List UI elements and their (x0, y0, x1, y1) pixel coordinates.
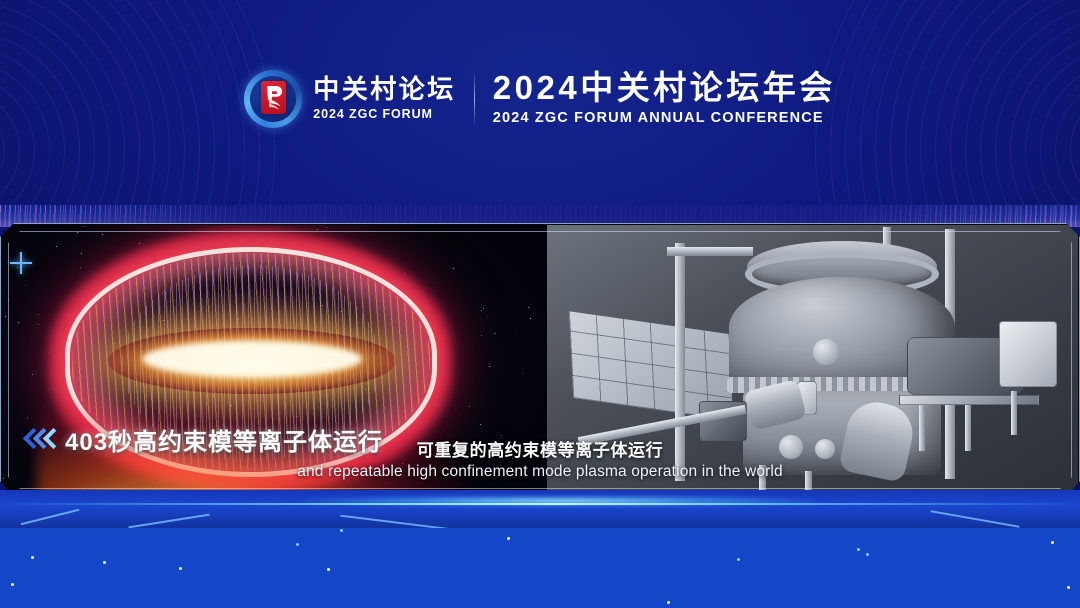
conference-title-block: 2024中关村论坛年会 2024 ZGC FORUM ANNUAL CONFER… (493, 70, 836, 130)
conference-header: 中关村论坛 2024 ZGC FORUM 2024中关村论坛年会 2024 ZG… (0, 0, 1080, 205)
logo-title-en: 2024 ZGC FORUM (313, 106, 456, 124)
header-divider (474, 71, 475, 127)
band-chevron-decor (21, 509, 80, 525)
video-panel-wrapper: 403秒高约束模等离子体运行 (0, 205, 1080, 497)
reactor-cross-beam (667, 247, 753, 256)
reactor-port (813, 339, 839, 365)
band-chevron-decor (931, 510, 1020, 528)
video-content: 403秒高约束模等离子体运行 (2, 225, 1078, 495)
band-highlight-line (0, 503, 1080, 505)
plus-icon (10, 252, 32, 274)
reactor-module (999, 321, 1057, 387)
logo-badge-shape (261, 81, 286, 114)
logo-glyph-icon (261, 81, 286, 114)
torus-core-bright (142, 341, 362, 377)
conference-title-en: 2024 ZGC FORUM ANNUAL CONFERENCE (493, 108, 836, 129)
subtitle-en: and repeatable high confinement mode pla… (2, 463, 1078, 481)
band-chevron-decor (128, 514, 209, 529)
reactor-platform (899, 395, 1039, 405)
brand-row: 中关村论坛 2024 ZGC FORUM 2024中关村论坛年会 2024 ZG… (244, 70, 835, 130)
presentation-stage: 中关村论坛 2024 ZGC FORUM 2024中关村论坛年会 2024 ZG… (0, 0, 1080, 608)
logo-title-cn: 中关村论坛 (313, 76, 456, 104)
bottom-glow-band (0, 490, 1080, 530)
zgc-forum-logo-icon (244, 70, 302, 128)
subtitle-block: 可重复的高约束模等离子体运行 and repeatable high confi… (2, 436, 1078, 481)
subtitle-cn: 可重复的高约束模等离子体运行 (2, 436, 1078, 461)
reactor-leg (1011, 391, 1017, 435)
bottom-radial-lines (0, 528, 1080, 608)
video-frame: 403秒高约束模等离子体运行 (0, 223, 1080, 497)
logo-text-block: 中关村论坛 2024 ZGC FORUM (313, 76, 472, 123)
conference-title-cn: 2024中关村论坛年会 (493, 70, 836, 106)
